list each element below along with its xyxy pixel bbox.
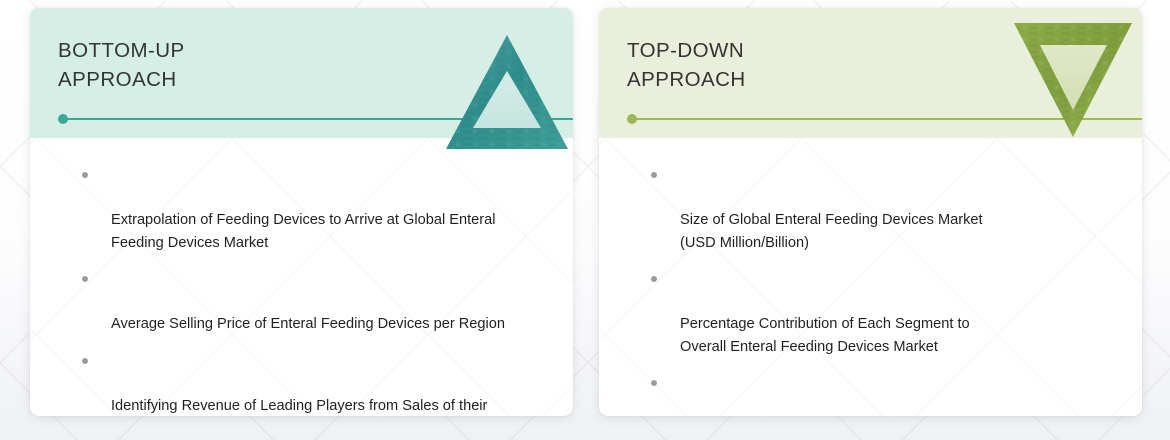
list-item: Average Selling Price of Enteral Feeding…: [82, 268, 549, 336]
card-body-bottom-up: Extrapolation of Feeding Devices to Arri…: [30, 138, 573, 416]
bullet-dot-icon: [651, 276, 657, 282]
list-item-text: Extrapolation of Feeding Devices to Arri…: [111, 212, 496, 251]
card-header-bottom-up: BOTTOM-UP APPROACH: [30, 8, 573, 138]
accent-rule-bottom-up: [58, 114, 573, 124]
list-item: Extrapolation of Feeding Devices to Arri…: [82, 164, 549, 254]
bullet-list-bottom-up: Extrapolation of Feeding Devices to Arri…: [82, 164, 549, 416]
card-header-top-down: TOP-DOWN APPROACH: [599, 8, 1142, 138]
card-body-top-down: Size of Global Enteral Feeding Devices M…: [599, 138, 1142, 416]
bullet-dot-icon: [651, 172, 657, 178]
card-bottom-up-approach: BOTTOM-UP APPROACH: [30, 8, 573, 416]
accent-line: [63, 118, 573, 120]
card-top-down-approach: TOP-DOWN APPROACH: [599, 8, 1142, 416]
approach-cards-container: BOTTOM-UP APPROACH: [0, 0, 1170, 416]
bullet-dot-icon: [82, 276, 88, 282]
list-item-text: Identifying Revenue of Leading Players f…: [111, 398, 487, 417]
accent-line: [632, 118, 1142, 120]
list-item: Percentage Contribution of Each Segment …: [651, 268, 1118, 358]
list-item: Geographic Adoption Trends, by Product, …: [651, 372, 1118, 416]
list-item-text: Average Selling Price of Enteral Feeding…: [111, 316, 505, 332]
list-item-text: Size of Global Enteral Feeding Devices M…: [680, 212, 983, 251]
list-item: Size of Global Enteral Feeding Devices M…: [651, 164, 1118, 254]
list-item: Identifying Revenue of Leading Players f…: [82, 350, 549, 417]
bullet-dot-icon: [82, 358, 88, 364]
accent-rule-top-down: [627, 114, 1142, 124]
page-title-bottom-up: BOTTOM-UP APPROACH: [58, 36, 573, 94]
list-item-text: Percentage Contribution of Each Segment …: [680, 316, 970, 355]
page-title-top-down: TOP-DOWN APPROACH: [627, 36, 1142, 94]
bullet-list-top-down: Size of Global Enteral Feeding Devices M…: [651, 164, 1118, 416]
bullet-dot-icon: [651, 380, 657, 386]
page-canvas: BOTTOM-UP APPROACH: [0, 0, 1170, 440]
bullet-dot-icon: [82, 172, 88, 178]
